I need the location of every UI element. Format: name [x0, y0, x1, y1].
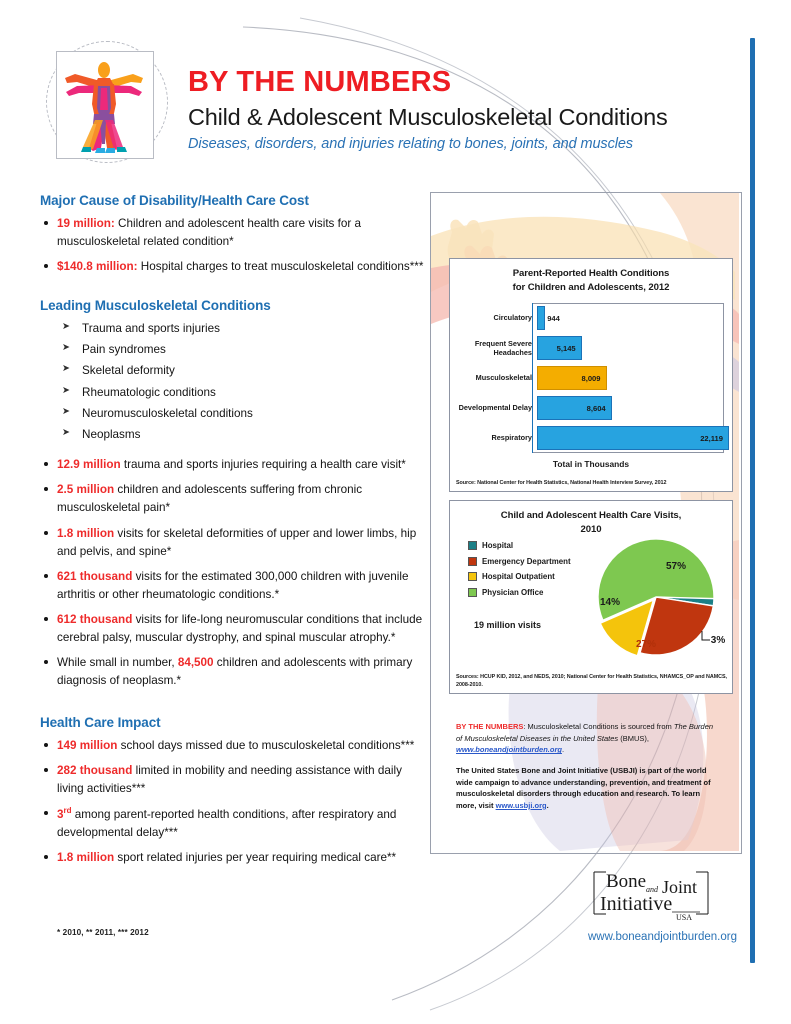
- bullet-highlight: 612 thousand: [57, 613, 132, 626]
- list-item: 612 thousand visits for life-long neurom…: [40, 611, 430, 647]
- page-tagline: Diseases, disorders, and injuries relati…: [188, 136, 633, 152]
- pie-leader-line: [702, 631, 710, 640]
- legend-swatch: [468, 572, 477, 581]
- condition-list-item: Trauma and sports injuries: [40, 320, 430, 338]
- infographic-page: BY THE NUMBERS Child & Adolescent Muscul…: [0, 0, 791, 1024]
- section-heading-leading-conditions: Leading Musculoskeletal Conditions: [40, 298, 430, 313]
- condition-list-item: Rheumatologic conditions: [40, 384, 430, 402]
- footer-paragraph-usbji: The United States Bone and Joint Initiat…: [456, 765, 718, 812]
- pie-value-label: 14%: [600, 597, 620, 608]
- bullet-list-statistics: 12.9 million trauma and sports injuries …: [40, 456, 430, 690]
- bar-chart-plot: Circulatory944Frequent Severe Headaches5…: [458, 303, 724, 453]
- bar-track: 22,119: [537, 423, 724, 453]
- legend-label: Hospital: [482, 541, 513, 550]
- list-item: 1.8 million sport related injuries per y…: [40, 849, 430, 867]
- bullet-text: sport related injuries per year requirin…: [114, 851, 396, 864]
- logo-text-bone: Bone: [606, 871, 646, 892]
- bar-track: 944: [537, 303, 724, 333]
- legend-item: Hospital: [468, 541, 571, 550]
- bullet-highlight: 3rd: [57, 808, 72, 821]
- footer-btn-label: BY THE NUMBERS: [456, 722, 523, 731]
- bullet-highlight: 2.5 million: [57, 483, 114, 496]
- list-item: 12.9 million trauma and sports injuries …: [40, 456, 430, 474]
- bone-joint-initiative-logo: Bone and Joint Initiative USA: [590, 862, 712, 924]
- bar-chart-row: Developmental Delay8,604: [458, 393, 724, 423]
- condition-list-item: Neuromusculoskeletal conditions: [40, 405, 430, 423]
- bullet-highlight: 84,500: [178, 656, 214, 669]
- bar-value-label: 22,119: [700, 434, 728, 443]
- link-usbji[interactable]: www.usbji.org: [496, 801, 547, 810]
- site-url[interactable]: www.boneandjointburden.org: [588, 931, 737, 943]
- bar-track: 5,145: [537, 333, 724, 363]
- bar-chart-title: Parent-Reported Health Conditions for Ch…: [450, 259, 732, 295]
- list-item: $140.8 million: Hospital charges to trea…: [40, 258, 430, 276]
- bullet-text: among parent-reported health conditions,…: [57, 808, 396, 839]
- footnote-years: * 2010, ** 2011, *** 2012: [57, 928, 149, 937]
- bullet-list-impact: 149 million school days missed due to mu…: [40, 737, 430, 868]
- list-item: 3rd among parent-reported health conditi…: [40, 805, 430, 842]
- legend-swatch: [468, 541, 477, 550]
- bullet-highlight: 282 thousand: [57, 764, 132, 777]
- bar-value-label: 8,009: [582, 374, 606, 383]
- bar-chart-row: Circulatory944: [458, 303, 724, 333]
- bullet-highlight: 621 thousand: [57, 570, 132, 583]
- legend-label: Hospital Outpatient: [482, 572, 555, 581]
- bar: 8,009: [537, 366, 607, 390]
- bar-track: 8,604: [537, 393, 724, 423]
- condition-list-item: Neoplasms: [40, 426, 430, 444]
- pie-chart-graphic: 57%27%14%3%: [590, 531, 730, 671]
- legend-item: Physician Office: [468, 588, 571, 597]
- pie-value-label: 57%: [666, 561, 686, 572]
- logo-text-usa: USA: [676, 913, 692, 922]
- link-boneandjointburden[interactable]: www.boneandjointburden.org: [456, 745, 562, 754]
- bar-value-label: 8,604: [587, 404, 611, 413]
- pie-value-label: 27%: [636, 639, 656, 650]
- bullet-text: Hospital charges to treat musculoskeleta…: [138, 260, 424, 273]
- list-item: While small in number, 84,500 children a…: [40, 654, 430, 690]
- logo-text-initiative: Initiative: [600, 893, 672, 915]
- list-item: 2.5 million children and adolescents suf…: [40, 481, 430, 517]
- footer-paragraph-source: BY THE NUMBERS: Musculoskeletal Conditio…: [456, 721, 718, 756]
- list-item: 149 million school days missed due to mu…: [40, 737, 430, 755]
- bar-chart-row: Respiratory22,119: [458, 423, 724, 453]
- bar-category-label: Circulatory: [458, 313, 537, 322]
- bar-value-label: 944: [547, 314, 560, 323]
- condition-list-item: Skeletal deformity: [40, 362, 430, 380]
- section-heading-major-cause: Major Cause of Disability/Health Care Co…: [40, 193, 430, 208]
- bar-category-label: Respiratory: [458, 433, 537, 442]
- legend-swatch: [468, 557, 477, 566]
- bar-track: 8,009: [537, 363, 724, 393]
- bar-chart-x-label: Total in Thousands: [450, 459, 732, 469]
- left-content-column: Major Cause of Disability/Health Care Co…: [40, 193, 430, 874]
- vitruvian-man-icon: [57, 52, 151, 156]
- bar: 8,604: [537, 396, 612, 420]
- footer-text-block: BY THE NUMBERS: Musculoskeletal Conditio…: [456, 721, 718, 820]
- bullet-prefix: While small in number,: [57, 656, 178, 669]
- legend-item: Hospital Outpatient: [468, 572, 571, 581]
- bullet-highlight: $140.8 million:: [57, 260, 138, 273]
- bullet-list-major-cause: 19 million: Children and adolescent heal…: [40, 215, 430, 276]
- page-subtitle: Child & Adolescent Musculoskeletal Condi…: [188, 104, 668, 131]
- bullet-highlight: 149 million: [57, 739, 117, 752]
- legend-label: Emergency Department: [482, 557, 571, 566]
- bullet-highlight: 19 million:: [57, 217, 115, 230]
- bullet-text: school days missed due to musculoskeleta…: [117, 739, 414, 752]
- legend-item: Emergency Department: [468, 557, 571, 566]
- pie-chart-source: Sources: HCUP KID, 2012, and NEDS, 2010;…: [456, 674, 728, 690]
- bar: 944: [537, 306, 545, 330]
- bar-chart-source: Source: National Center for Health Stati…: [456, 480, 728, 488]
- bar-category-label: Frequent Severe Headaches: [458, 339, 537, 357]
- bar-category-label: Musculoskeletal: [458, 373, 537, 382]
- section-heading-health-care-impact: Health Care Impact: [40, 715, 430, 730]
- bar-chart-row: Musculoskeletal8,009: [458, 363, 724, 393]
- bullet-highlight: 1.8 million: [57, 851, 114, 864]
- legend-swatch: [468, 588, 477, 597]
- bullet-text: trauma and sports injuries requiring a h…: [121, 458, 406, 471]
- bar-category-label: Developmental Delay: [458, 403, 537, 412]
- bar: 5,145: [537, 336, 582, 360]
- condition-list-item: Pain syndromes: [40, 341, 430, 359]
- bullet-highlight: 12.9 million: [57, 458, 121, 471]
- list-item: 1.8 million visits for skeletal deformit…: [40, 525, 430, 561]
- right-blue-rule: [750, 38, 755, 963]
- pie-chart-annotation: 19 million visits: [474, 620, 541, 630]
- pie-chart-card: Child and Adolescent Health Care Visits,…: [449, 500, 733, 694]
- bar-chart-card: Parent-Reported Health Conditions for Ch…: [449, 258, 733, 492]
- list-item: 19 million: Children and adolescent heal…: [40, 215, 430, 251]
- bar-value-label: 5,145: [557, 344, 581, 353]
- pie-value-label: 3%: [711, 635, 726, 646]
- list-item: 282 thousand limited in mobility and nee…: [40, 762, 430, 798]
- list-item: 621 thousand visits for the estimated 30…: [40, 568, 430, 604]
- bullet-highlight: 1.8 million: [57, 527, 114, 540]
- bar-chart-row: Frequent Severe Headaches5,145: [458, 333, 724, 363]
- arrow-list-conditions: Trauma and sports injuriesPain syndromes…: [40, 320, 430, 443]
- bar: 22,119: [537, 426, 729, 450]
- legend-label: Physician Office: [482, 588, 543, 597]
- pie-chart-legend: HospitalEmergency DepartmentHospital Out…: [468, 541, 571, 603]
- page-title: BY THE NUMBERS: [188, 66, 451, 99]
